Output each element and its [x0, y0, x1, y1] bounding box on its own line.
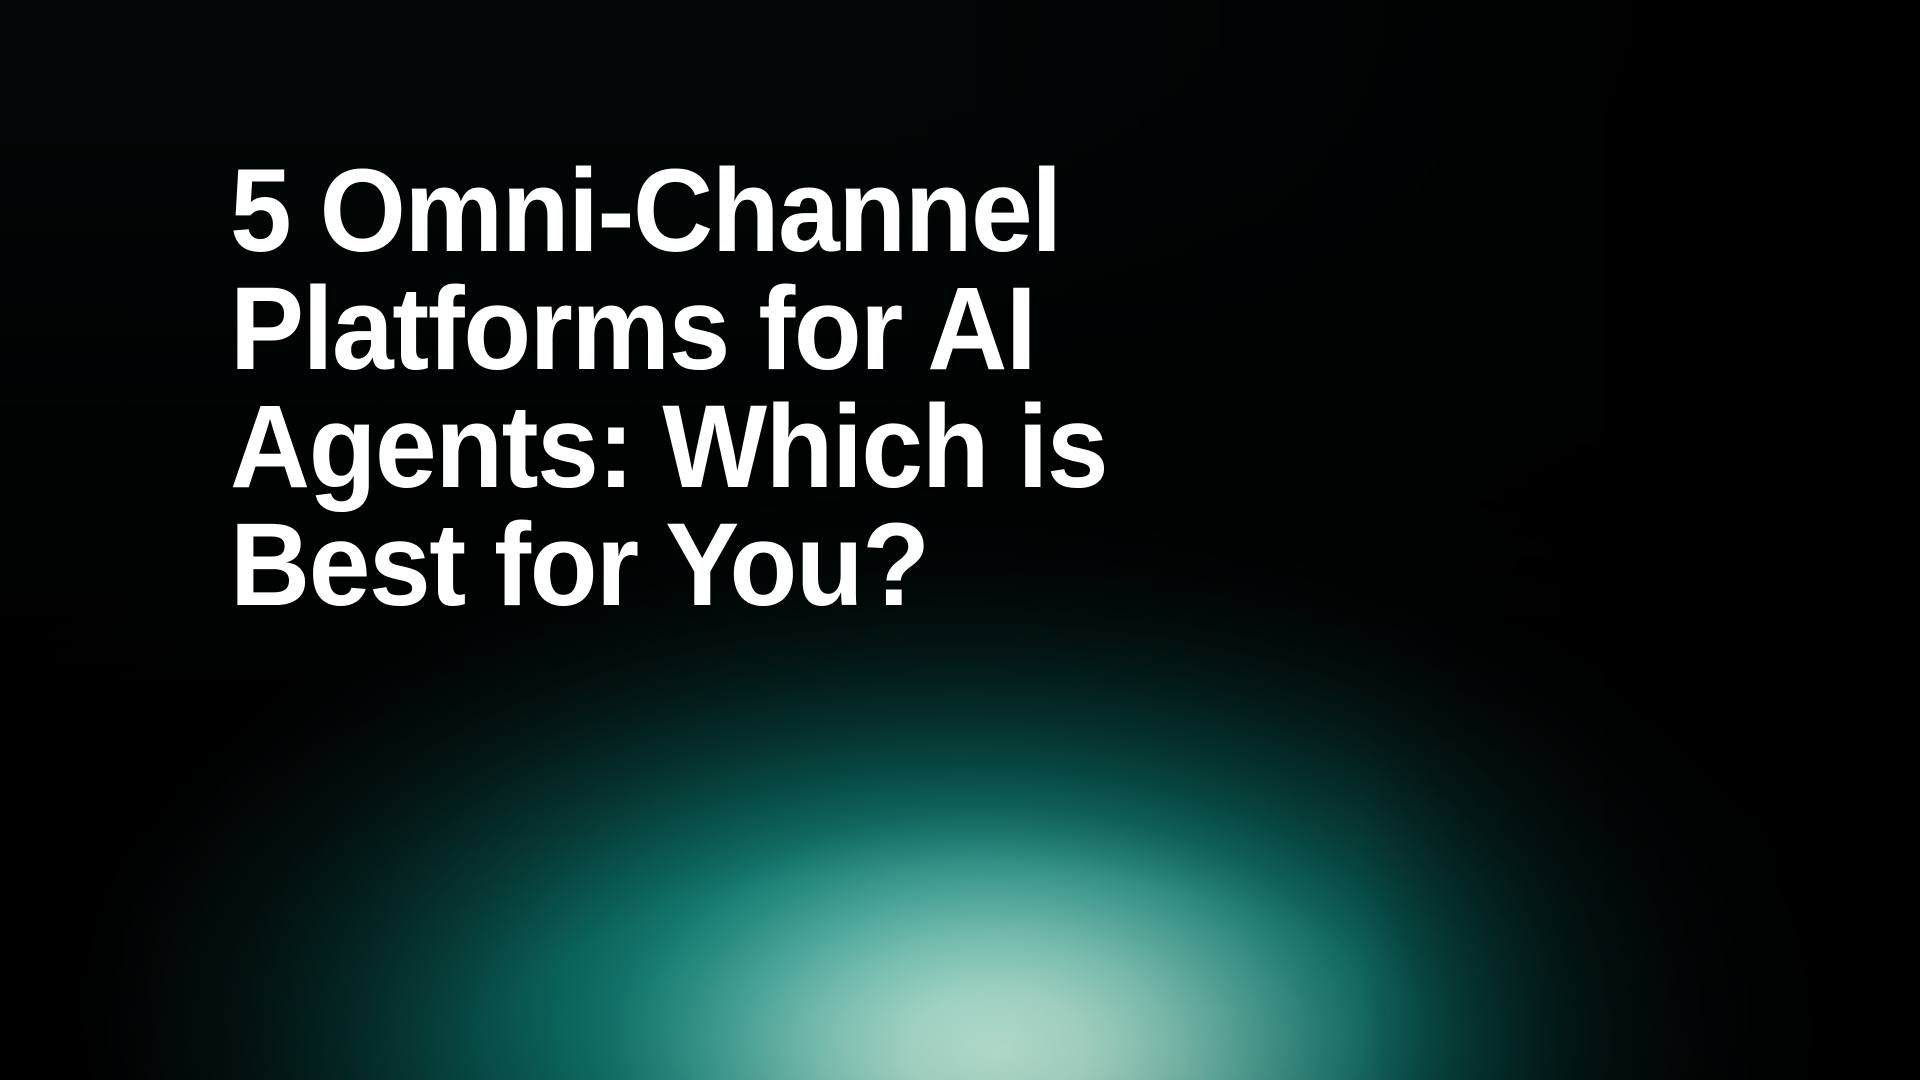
hero-card: 5 Omni-Channel Platforms for AI Agents: …	[0, 0, 1920, 1080]
page-title: 5 Omni-Channel Platforms for AI Agents: …	[230, 152, 1292, 624]
headline-block: 5 Omni-Channel Platforms for AI Agents: …	[230, 152, 1360, 624]
background-warm-core-glow	[548, 770, 1448, 1080]
